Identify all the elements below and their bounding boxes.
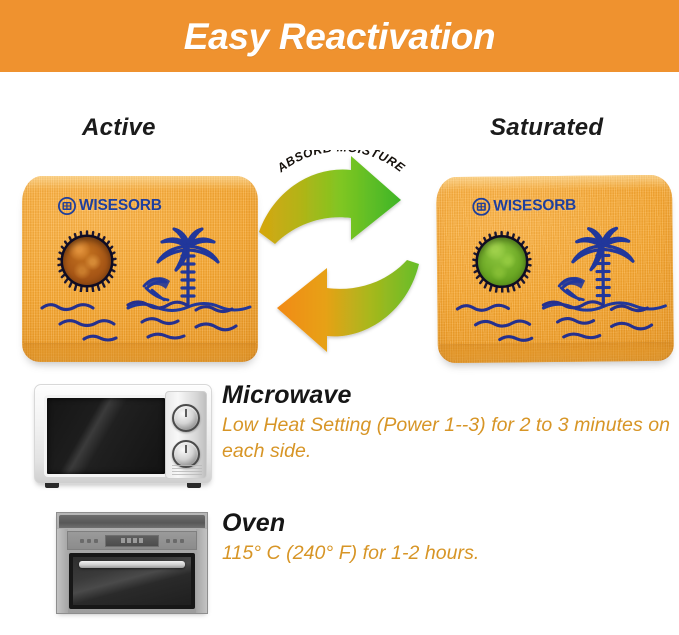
oven-illustration	[56, 510, 206, 614]
brand-name-active: WISESORB	[79, 197, 162, 215]
state-label-active: Active	[82, 114, 156, 142]
humidity-indicator-saturated	[471, 230, 534, 293]
wisesorb-logo-icon	[58, 197, 76, 215]
microwave-icon	[34, 384, 212, 484]
instruction-row-oven: Oven 115° C (240° F) for 1-2 hours.	[0, 510, 679, 630]
absorb-reactivate-cycle-icon	[251, 144, 431, 404]
arrow-absorb-right	[259, 156, 401, 244]
microwave-foot-left	[45, 483, 59, 488]
microwave-door	[44, 395, 168, 477]
microwave-vent	[172, 465, 202, 475]
instruction-row-microwave: Microwave Low Heat Setting (Power 1--3) …	[0, 382, 679, 502]
oven-side-right	[196, 529, 207, 613]
desiccant-packet-active: WISESORB	[22, 176, 258, 362]
microwave-heading: Microwave	[222, 382, 672, 408]
oven-door[interactable]	[69, 553, 195, 609]
oven-cooktop	[59, 515, 205, 528]
microwave-detail: Low Heat Setting (Power 1--3) for 2 to 3…	[222, 413, 672, 464]
oven-heading: Oven	[222, 510, 672, 536]
wisesorb-logo-active: WISESORB	[58, 197, 162, 215]
packet-top-fold	[28, 176, 252, 190]
wisesorb-logo-saturated: WISESORB	[472, 197, 576, 216]
oven-left-buttons[interactable]	[80, 539, 98, 543]
oven-icon	[56, 512, 208, 614]
microwave-timer-knob[interactable]	[172, 440, 200, 468]
microwave-illustration	[34, 382, 210, 486]
packet-bottom-seam	[440, 342, 672, 363]
oven-door-handle[interactable]	[79, 561, 185, 568]
wisesorb-logo-icon	[472, 198, 490, 216]
page-title: Easy Reactivation	[184, 18, 496, 55]
silica-beads-saturated	[478, 237, 527, 286]
microwave-foot-right	[187, 483, 201, 488]
oven-display	[105, 535, 159, 547]
packet-bottom-seam	[24, 343, 256, 362]
comparison-section: Active Saturated WISESORB	[0, 72, 679, 377]
microwave-text-block: Microwave Low Heat Setting (Power 1--3) …	[222, 382, 672, 465]
state-label-saturated: Saturated	[490, 114, 603, 142]
packet-top-fold	[442, 175, 666, 191]
humidity-indicator-active	[56, 230, 118, 292]
microwave-power-knob[interactable]	[172, 404, 200, 432]
brand-name-saturated: WISESORB	[493, 197, 576, 216]
header-banner: Easy Reactivation	[0, 0, 679, 72]
silica-beads-active	[63, 237, 111, 285]
oven-right-buttons[interactable]	[166, 539, 184, 543]
arrow-reactivate-left	[277, 260, 419, 352]
ocean-waves-icon-active	[36, 296, 252, 350]
oven-control-panel	[67, 531, 197, 550]
desiccant-packet-saturated: WISESORB	[436, 175, 674, 363]
oven-text-block: Oven 115° C (240° F) for 1-2 hours.	[222, 510, 672, 567]
oven-detail: 115° C (240° F) for 1-2 hours.	[222, 541, 672, 567]
